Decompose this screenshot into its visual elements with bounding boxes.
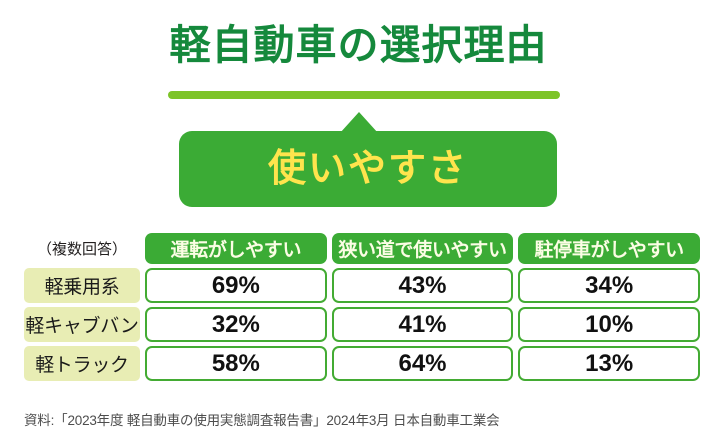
column-header-1: 運転がしやすい xyxy=(145,233,327,264)
column-header-3-text: 駐停車がしやすい xyxy=(534,235,683,262)
title-underline-rule xyxy=(168,91,560,99)
multiple-answer-note-text: （複数回答） xyxy=(37,238,127,259)
cell-r3c1-value: 58% xyxy=(212,350,260,378)
cell-r1c3: 34% xyxy=(518,268,700,303)
cell-r2c2-value: 41% xyxy=(398,311,446,339)
source-citation: 資料:「2023年度 軽自動車の使用実態調査報告書」2024年3月 日本自動車工… xyxy=(24,409,499,429)
cell-r1c1-value: 69% xyxy=(212,272,260,300)
cell-r3c1: 58% xyxy=(145,346,327,381)
page-title: 軽自動車の選択理由 xyxy=(0,20,717,70)
column-header-2-text: 狭い道で使いやすい xyxy=(338,235,506,262)
cell-r1c1: 69% xyxy=(145,268,327,303)
cell-r1c3-value: 34% xyxy=(585,272,633,300)
cell-r2c3: 10% xyxy=(518,307,700,342)
column-header-2: 狭い道で使いやすい xyxy=(332,233,514,264)
cell-r2c3-value: 10% xyxy=(585,311,633,339)
row-label-3: 軽トラック xyxy=(24,346,140,381)
cell-r1c2: 43% xyxy=(332,268,514,303)
table-header-row: （複数回答） 運転がしやすい 狭い道で使いやすい 駐停車がしやすい xyxy=(0,232,717,264)
row-label-2-text: 軽キャブバン xyxy=(25,311,138,338)
column-header-1-text: 運転がしやすい xyxy=(170,235,301,262)
row-label-1-text: 軽乗用系 xyxy=(45,272,120,299)
row-label-1: 軽乗用系 xyxy=(24,268,140,303)
row-label-2: 軽キャブバン xyxy=(24,307,140,342)
results-table: （複数回答） 運転がしやすい 狭い道で使いやすい 駐停車がしやすい 軽乗用系 6… xyxy=(0,232,717,385)
callout-text: 使いやすさ xyxy=(268,149,468,189)
column-header-3: 駐停車がしやすい xyxy=(518,233,700,264)
cell-r3c3: 13% xyxy=(518,346,700,381)
callout-banner: 使いやすさ xyxy=(179,112,557,207)
cell-r2c1-value: 32% xyxy=(212,311,260,339)
table-row: 軽キャブバン 32% 41% 10% xyxy=(0,307,717,342)
callout-arrow-icon xyxy=(340,112,378,133)
cell-r2c2: 41% xyxy=(332,307,514,342)
cell-r1c2-value: 43% xyxy=(398,272,446,300)
cell-r3c2: 64% xyxy=(332,346,514,381)
cell-r3c3-value: 13% xyxy=(585,350,633,378)
callout-box: 使いやすさ xyxy=(179,131,557,207)
cell-r3c2-value: 64% xyxy=(398,350,446,378)
table-row: 軽乗用系 69% 43% 34% xyxy=(0,268,717,303)
page-title-text: 軽自動車の選択理由 xyxy=(0,20,717,70)
row-label-3-text: 軽トラック xyxy=(35,350,129,377)
multiple-answer-note: （複数回答） xyxy=(24,232,140,264)
table-row: 軽トラック 58% 64% 13% xyxy=(0,346,717,381)
cell-r2c1: 32% xyxy=(145,307,327,342)
